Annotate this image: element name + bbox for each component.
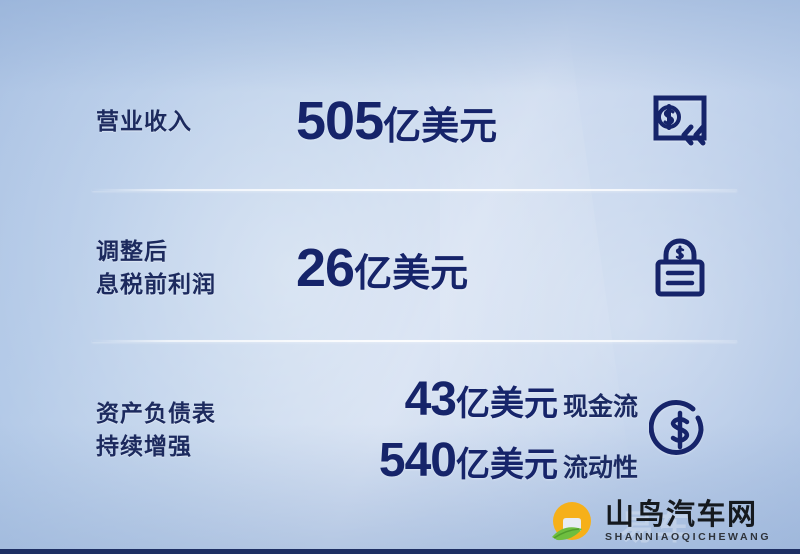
metric-unit: 亿美元 — [383, 95, 497, 150]
metric-label-line: 资产负债表 — [96, 397, 296, 430]
metric-number: 540 — [379, 433, 456, 488]
metric-value-revenue: 505 亿美元 — [296, 90, 636, 152]
metric-label-line: 调整后 — [96, 235, 296, 268]
metric-label-adjusted-ebit: 调整后 息税前利润 — [96, 235, 296, 300]
bottom-accent-bar — [0, 549, 800, 554]
metric-unit: 亿美元 — [456, 437, 558, 486]
metric-label-revenue: 营业收入 — [96, 105, 296, 138]
site-name-cn: 山鸟汽车网 — [605, 500, 771, 530]
metric-value-balance-sheet: 43 亿美元 现金流 540 亿美元 流动性 — [286, 372, 638, 488]
metric-value-line-cashflow: 43 亿美元 现金流 — [286, 372, 638, 427]
metric-unit: 亿美元 — [354, 242, 468, 297]
site-watermark-text: 山鸟汽车网 SHANNIAOQICHEWANG — [605, 500, 771, 546]
metric-value-line: 505 亿美元 — [296, 90, 636, 152]
slide-canvas: 营业收入 505 亿美元 — [0, 0, 800, 554]
row-divider — [92, 340, 737, 342]
metric-label-line: 持续增强 — [96, 430, 296, 463]
metric-value-line-liquidity: 540 亿美元 流动性 — [286, 433, 638, 488]
metric-label-balance-sheet: 资产负债表 持续增强 — [96, 397, 296, 462]
metric-suffix: 流动性 — [563, 448, 638, 484]
metric-suffix: 现金流 — [563, 387, 638, 423]
metric-unit: 亿美元 — [456, 376, 558, 425]
metric-row-adjusted-ebit: 调整后 息税前利润 26 亿美元 — [0, 208, 800, 328]
metric-number: 26 — [296, 237, 354, 299]
metric-value-adjusted-ebit: 26 亿美元 — [296, 237, 636, 299]
site-watermark: 山鸟汽车网 SHANNIAOQICHEWANG — [548, 496, 792, 550]
dollar-screen-chevrons-icon — [640, 81, 720, 161]
metric-value-line: 26 亿美元 — [296, 237, 636, 299]
metric-number: 505 — [296, 90, 383, 152]
site-logo-icon — [548, 499, 596, 547]
metric-row-revenue: 营业收入 505 亿美元 — [0, 62, 800, 180]
metrics-list: 营业收入 505 亿美元 — [0, 0, 800, 554]
metric-label-line: 营业收入 — [96, 105, 296, 138]
metric-number: 43 — [405, 372, 456, 427]
site-name-pinyin: SHANNIAOQICHEWANG — [605, 530, 771, 546]
metric-row-balance-sheet: 资产负债表 持续增强 43 亿美元 现金流 540 亿美元 流动性 — [0, 368, 800, 492]
row-divider — [92, 189, 737, 191]
dollar-coin-icon — [640, 390, 720, 470]
padlock-icon — [640, 228, 720, 308]
metric-label-line: 息税前利润 — [96, 268, 296, 301]
